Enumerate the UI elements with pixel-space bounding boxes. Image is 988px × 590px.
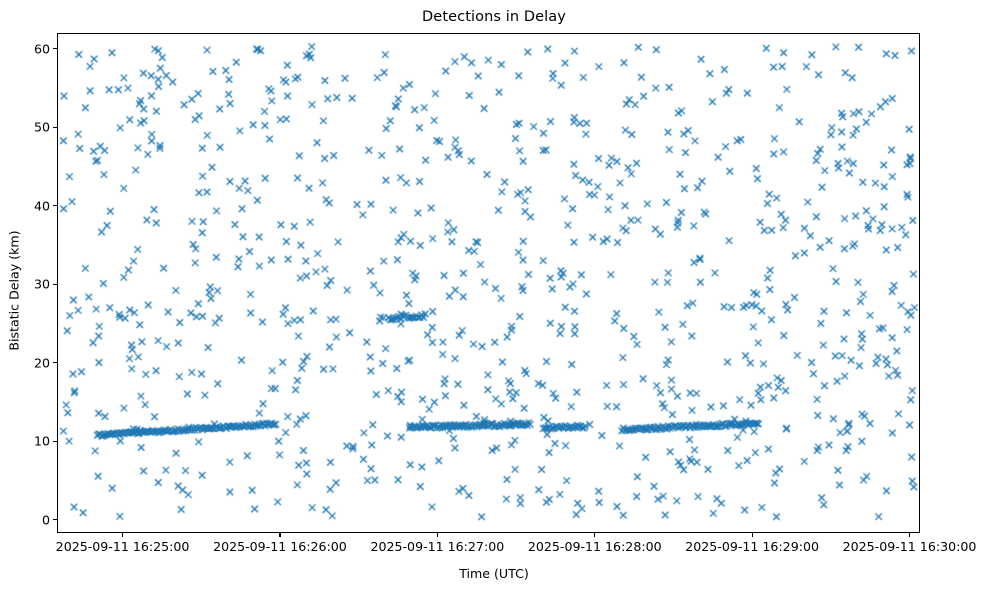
y-tick-mark: [53, 205, 57, 206]
y-tick-label: 20: [20, 355, 50, 370]
x-tick-mark: [752, 533, 753, 537]
y-tick-mark: [53, 441, 57, 442]
y-tick-mark: [53, 519, 57, 520]
x-tick-mark: [122, 533, 123, 537]
x-axis-label: Time (UTC): [0, 566, 988, 581]
x-tick-label: 2025-09-11 16:29:00: [685, 539, 819, 554]
y-tick-mark: [53, 362, 57, 363]
y-tick-label: 40: [20, 198, 50, 213]
y-tick-label: 0: [20, 512, 50, 527]
y-tick-mark: [53, 284, 57, 285]
x-tick-mark: [437, 533, 438, 537]
y-tick-mark: [53, 48, 57, 49]
x-tick-mark: [909, 533, 910, 537]
x-tick-label: 2025-09-11 16:27:00: [370, 539, 504, 554]
chart-title: Detections in Delay: [0, 9, 988, 25]
y-tick-label: 50: [20, 120, 50, 135]
x-tick-label: 2025-09-11 16:25:00: [56, 539, 190, 554]
x-tick-mark: [594, 533, 595, 537]
x-axis-tick-labels: 2025-09-11 16:25:002025-09-11 16:26:0020…: [57, 539, 920, 559]
x-tick-label: 2025-09-11 16:28:00: [528, 539, 662, 554]
x-axis-tick-marks: [57, 533, 920, 537]
y-axis-tick-marks: [53, 33, 57, 533]
y-axis-label: Bistatic Delay (km): [7, 191, 22, 391]
y-tick-label: 10: [20, 434, 50, 449]
plot-axes-area: [57, 33, 920, 533]
x-tick-mark: [279, 533, 280, 537]
y-tick-label: 30: [20, 277, 50, 292]
matplotlib-figure: Detections in Delay 0102030405060 2025-0…: [0, 0, 988, 590]
y-tick-mark: [53, 127, 57, 128]
x-tick-label: 2025-09-11 16:26:00: [213, 539, 347, 554]
y-tick-label: 60: [20, 41, 50, 56]
scatter-plot-canvas: [58, 34, 920, 533]
x-tick-label: 2025-09-11 16:30:00: [843, 539, 977, 554]
